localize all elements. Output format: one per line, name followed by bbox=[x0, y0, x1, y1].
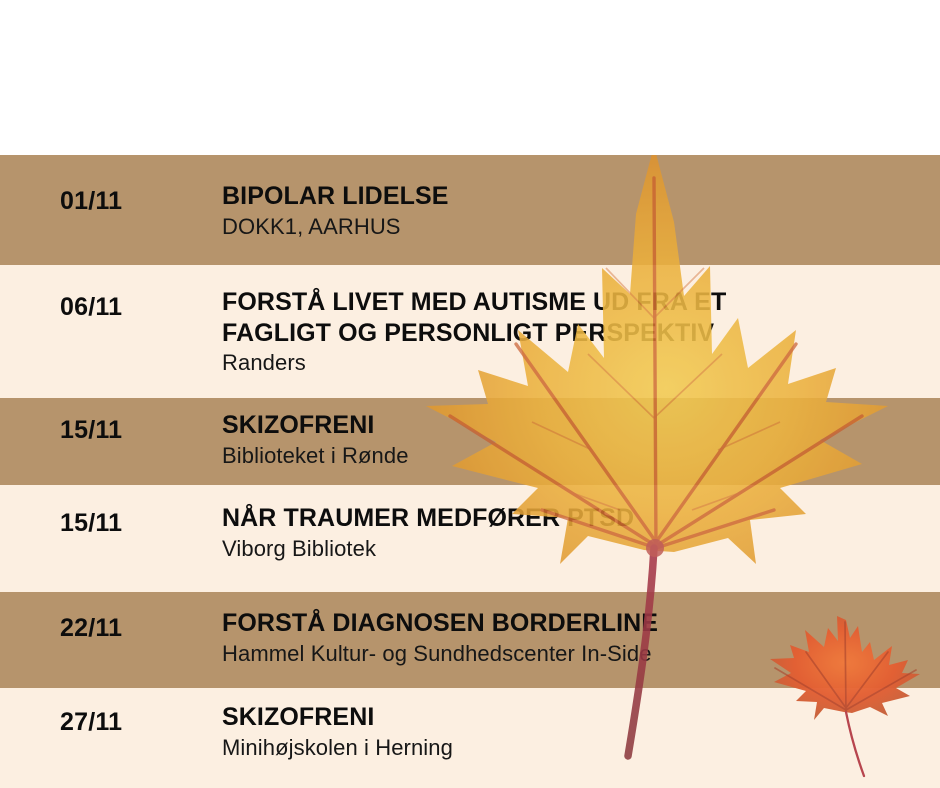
row-title: SKIZOFRENI bbox=[222, 410, 930, 441]
row-venue: DOKK1, AARHUS bbox=[222, 214, 930, 241]
schedule-row: 15/11 SKIZOFRENI Biblioteket i Rønde bbox=[0, 398, 940, 485]
row-date: 01/11 bbox=[60, 187, 122, 216]
row-title: NÅR TRAUMER MEDFØRER PTSD bbox=[222, 503, 930, 534]
row-body: SKIZOFRENI Minihøjskolen i Herning bbox=[222, 702, 930, 761]
row-date: 22/11 bbox=[60, 614, 122, 643]
row-venue: Viborg Bibliotek bbox=[222, 536, 930, 563]
row-title: SKIZOFRENI bbox=[222, 702, 930, 733]
schedule-row: 15/11 NÅR TRAUMER MEDFØRER PTSD Viborg B… bbox=[0, 485, 940, 592]
row-venue: Minihøjskolen i Herning bbox=[222, 735, 930, 762]
schedule-row: 27/11 SKIZOFRENI Minihøjskolen i Herning bbox=[0, 688, 940, 788]
row-title: FORSTÅ DIAGNOSEN BORDERLINE bbox=[222, 608, 930, 639]
row-date: 06/11 bbox=[60, 293, 122, 322]
row-venue: Biblioteket i Rønde bbox=[222, 443, 930, 470]
row-venue: Hammel Kultur- og Sundhedscenter In-Side bbox=[222, 641, 930, 668]
row-body: FORSTÅ LIVET MED AUTISME UD FRA ET FAGLI… bbox=[222, 287, 930, 377]
schedule-row: 01/11 BIPOLAR LIDELSE DOKK1, AARHUS bbox=[0, 155, 940, 265]
row-title: BIPOLAR LIDELSE bbox=[222, 181, 930, 212]
page-title: Temaaftener i november bbox=[48, 28, 900, 114]
row-body: FORSTÅ DIAGNOSEN BORDERLINE Hammel Kultu… bbox=[222, 608, 930, 667]
row-date: 15/11 bbox=[60, 416, 122, 445]
poster-canvas: 01/11 BIPOLAR LIDELSE DOKK1, AARHUS 06/1… bbox=[0, 0, 940, 788]
schedule-row: 22/11 FORSTÅ DIAGNOSEN BORDERLINE Hammel… bbox=[0, 592, 940, 688]
row-body: SKIZOFRENI Biblioteket i Rønde bbox=[222, 410, 930, 469]
row-body: BIPOLAR LIDELSE DOKK1, AARHUS bbox=[222, 181, 930, 240]
row-body: NÅR TRAUMER MEDFØRER PTSD Viborg Bibliot… bbox=[222, 503, 930, 562]
row-date: 15/11 bbox=[60, 509, 122, 538]
schedule-row: 06/11 FORSTÅ LIVET MED AUTISME UD FRA ET… bbox=[0, 265, 940, 398]
schedule-list: 01/11 BIPOLAR LIDELSE DOKK1, AARHUS 06/1… bbox=[0, 155, 940, 788]
row-venue: Randers bbox=[222, 350, 930, 377]
row-date: 27/11 bbox=[60, 708, 122, 737]
poster-header: Temaaftener i november bbox=[0, 0, 940, 155]
row-title: FORSTÅ LIVET MED AUTISME UD FRA ET FAGLI… bbox=[222, 287, 930, 348]
